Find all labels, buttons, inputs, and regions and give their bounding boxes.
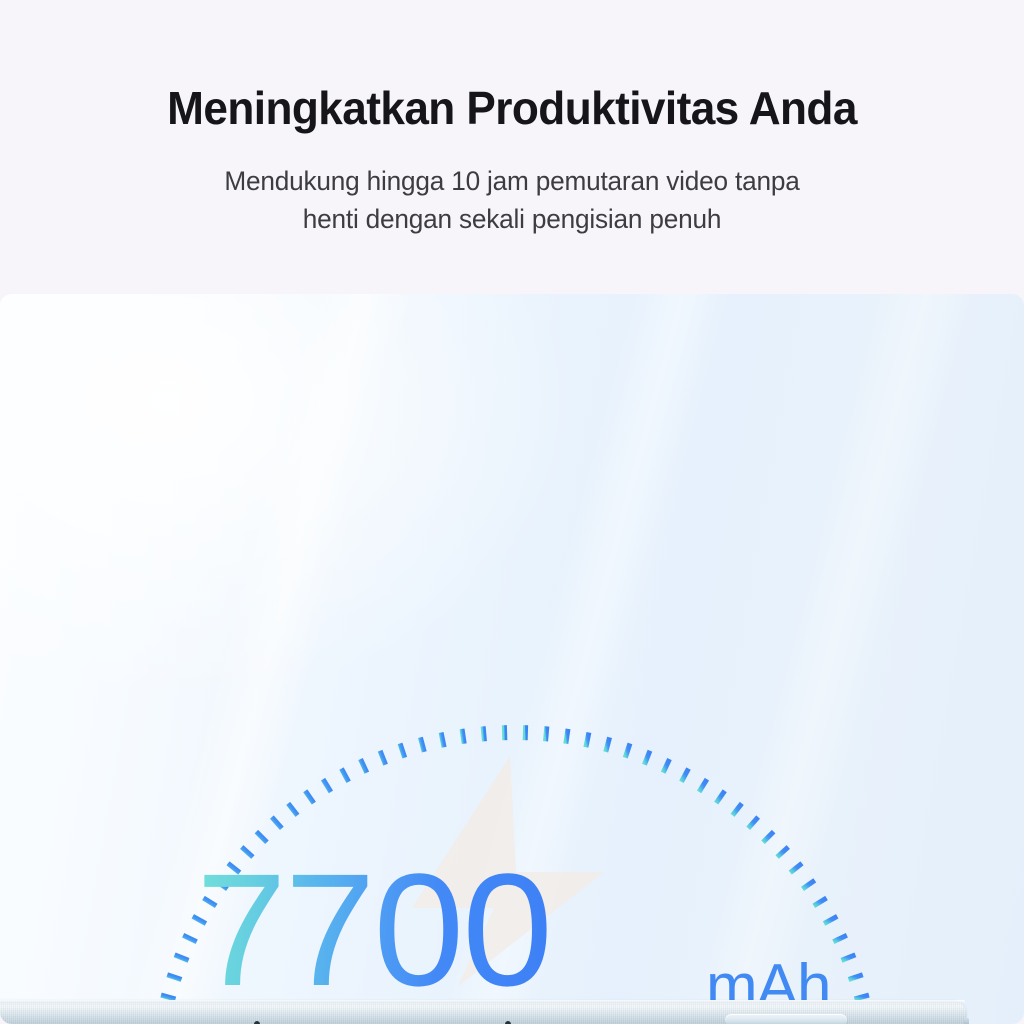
- tablet-chassis: [0, 1000, 966, 1024]
- tablet-side-profile-icon: [0, 1000, 966, 1024]
- tablet-top-highlight: [0, 1000, 966, 1003]
- hero-visual-panel: 7700 22.5W mAh Pengisian Cepat: [0, 294, 1024, 1024]
- power-button-icon: [725, 1014, 847, 1024]
- header-section: Meningkatkan Produktivitas Anda Mendukun…: [0, 0, 1024, 296]
- subtitle-line-1: Mendukung hingga 10 jam pemutaran video …: [15, 162, 1008, 200]
- tablet-end-notch: [964, 1018, 969, 1024]
- subtitle-line-2: henti dengan sekali pengisian penuh: [15, 200, 1008, 238]
- page-subtitle: Mendukung hingga 10 jam pemutaran video …: [15, 162, 1008, 239]
- promo-banner: Meningkatkan Produktivitas Anda Mendukun…: [0, 0, 1024, 1024]
- panel-corner-glow: [0, 294, 594, 717]
- page-title: Meningkatkan Produktivitas Anda: [20, 82, 1003, 135]
- battery-capacity-value: 7700: [196, 850, 551, 1010]
